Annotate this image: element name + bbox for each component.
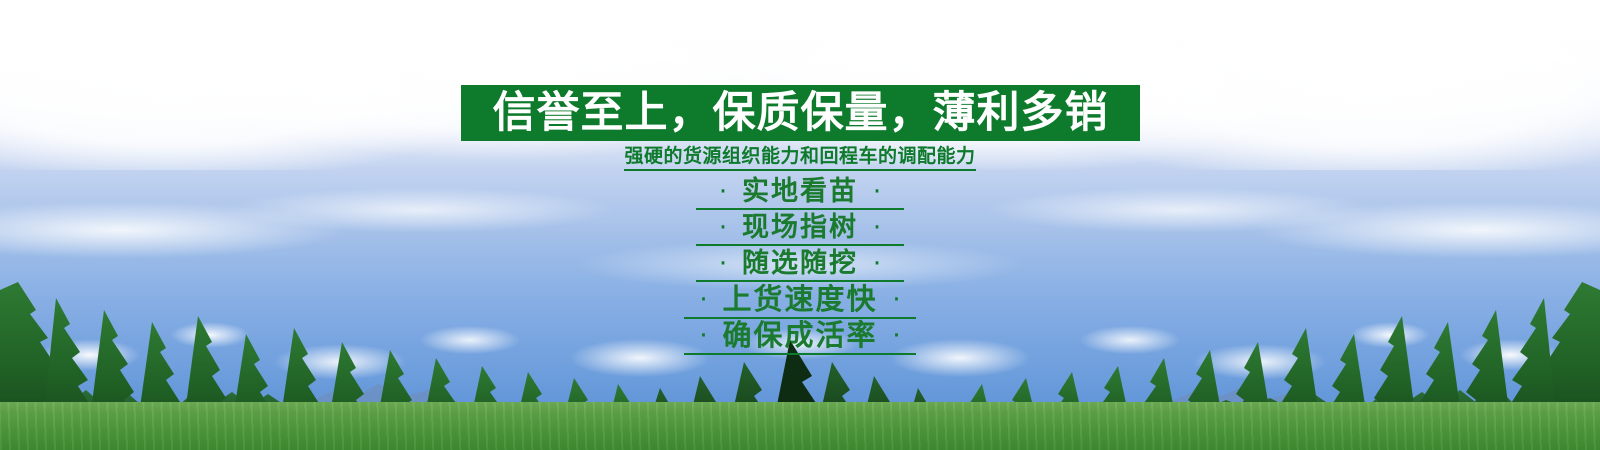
bullet-dot-icon: ·: [884, 287, 910, 313]
feature-item-inner: · 实地看苗 ·: [696, 178, 904, 210]
feature-label: 随选随挖: [736, 250, 864, 277]
promo-banner: 信誉至上，保质保量，薄利多销 强硬的货源组织能力和回程车的调配能力 · 实地看苗…: [0, 0, 1600, 450]
feature-item: · 现场指树 ·: [0, 212, 1600, 248]
feature-list: · 实地看苗 · · 现场指树 · · 随选随挖 ·: [0, 176, 1600, 356]
headline-text: 信誉至上，保质保量，薄利多销: [493, 92, 1109, 135]
feature-item: · 随选随挖 ·: [0, 248, 1600, 284]
feature-label: 上货速度快: [716, 285, 883, 314]
bullet-dot-icon: ·: [864, 251, 890, 277]
bullet-dot-icon: ·: [710, 179, 736, 205]
feature-item-inner: · 上货速度快 ·: [684, 285, 916, 319]
feature-item: · 确保成活率 ·: [0, 320, 1600, 356]
feature-item-inner: · 现场指树 ·: [696, 214, 904, 246]
feature-item: · 实地看苗 ·: [0, 176, 1600, 212]
feature-item-inner: · 确保成活率 ·: [684, 321, 916, 355]
bullet-dot-icon: ·: [690, 287, 716, 313]
feature-item: · 上货速度快 ·: [0, 284, 1600, 320]
bullet-dot-icon: ·: [710, 251, 736, 277]
headline-bar: 信誉至上，保质保量，薄利多销: [461, 85, 1140, 141]
feature-label: 现场指树: [736, 214, 864, 241]
bullet-dot-icon: ·: [884, 323, 910, 349]
bullet-dot-icon: ·: [690, 323, 716, 349]
subtitle-row: 强硬的货源组织能力和回程车的调配能力: [0, 146, 1600, 171]
bullet-dot-icon: ·: [710, 215, 736, 241]
banner-content: 信誉至上，保质保量，薄利多销 强硬的货源组织能力和回程车的调配能力 · 实地看苗…: [0, 0, 1600, 450]
subtitle-text: 强硬的货源组织能力和回程车的调配能力: [624, 146, 975, 171]
feature-item-inner: · 随选随挖 ·: [696, 250, 904, 282]
bullet-dot-icon: ·: [864, 215, 890, 241]
feature-label: 确保成活率: [716, 321, 883, 350]
feature-label: 实地看苗: [736, 178, 864, 205]
bullet-dot-icon: ·: [864, 179, 890, 205]
